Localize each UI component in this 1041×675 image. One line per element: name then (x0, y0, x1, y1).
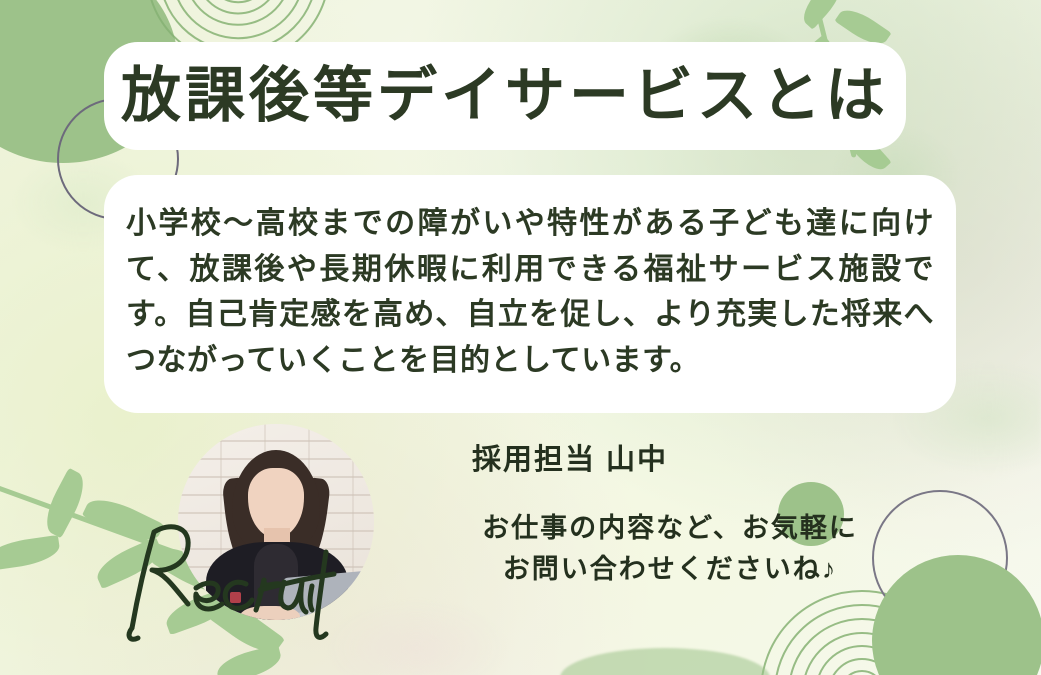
contact-message: お仕事の内容など、お気軽に お問い合わせくださいね♪ (450, 508, 890, 589)
contact-message-line1: お仕事の内容など、お気軽に (450, 508, 890, 549)
title-card: 放課後等デイサービスとは (104, 42, 906, 150)
contact-message-line2: お問い合わせくださいね♪ (450, 549, 890, 590)
photo-lapel-badge (230, 592, 241, 603)
staff-portrait-photo (178, 424, 374, 620)
photo-hands (240, 606, 300, 620)
staff-name-label: 採用担当 山中 (472, 436, 668, 478)
description-text: 小学校〜高校までの障がいや特性がある子ども達に向けて、放課後や長期休暇に利用でき… (126, 201, 934, 383)
poster-canvas: 放課後等デイサービスとは 小学校〜高校までの障がいや特性がある子ども達に向けて、… (0, 0, 1041, 675)
page-title: 放課後等デイサービスとは (121, 66, 889, 126)
description-card: 小学校〜高校までの障がいや特性がある子ども達に向けて、放課後や長期休暇に利用でき… (104, 175, 956, 413)
